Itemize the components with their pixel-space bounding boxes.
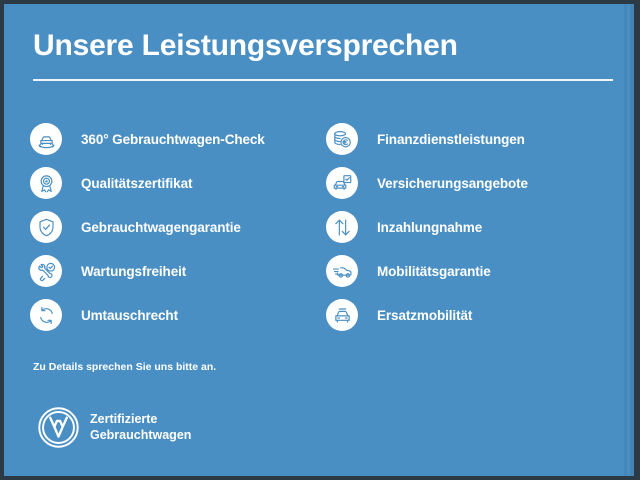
benefit-item: Finanzdienstleistungen <box>326 117 528 161</box>
benefit-item: Wartungsfreiheit <box>30 249 265 293</box>
edge-band <box>630 4 634 476</box>
up-down-arrows-icon <box>326 211 358 243</box>
wrench-check-icon <box>30 255 62 287</box>
benefit-label: Finanzdienstleistungen <box>377 132 525 147</box>
award-rosette-icon <box>30 167 62 199</box>
shield-check-icon <box>30 211 62 243</box>
benefit-item: 360° Gebrauchtwagen-Check <box>30 117 265 161</box>
benefit-item: Qualitätszertifikat <box>30 161 265 205</box>
volkswagen-logo-icon <box>36 405 81 450</box>
benefit-item: Ersatzmobilität <box>326 293 528 337</box>
car-speed-icon <box>326 255 358 287</box>
exchange-arrows-icon <box>30 299 62 331</box>
car-front-icon <box>326 299 358 331</box>
car-360-check-icon <box>30 123 62 155</box>
benefit-item: Umtauschrecht <box>30 293 265 337</box>
screenshot-frame: Unsere Leistungsversprechen 360° Gebrauc… <box>0 0 640 480</box>
brand-lockup: Zertifizierte Gebrauchtwagen <box>36 405 191 450</box>
benefit-label: Versicherungsangebote <box>377 176 528 191</box>
coins-euro-icon <box>326 123 358 155</box>
benefit-label: 360° Gebrauchtwagen-Check <box>81 132 265 147</box>
benefit-item: Gebrauchtwagengarantie <box>30 205 265 249</box>
benefit-label: Inzahlungnahme <box>377 220 482 235</box>
footnote-text: Zu Details sprechen Sie uns bitte an. <box>33 361 216 373</box>
benefit-item: Versicherungsangebote <box>326 161 528 205</box>
car-document-check-icon <box>326 167 358 199</box>
benefit-label: Qualitätszertifikat <box>81 176 192 191</box>
page-title: Unsere Leistungsversprechen <box>33 29 458 63</box>
benefits-left-column: 360° Gebrauchtwagen-Check Qualitätszerti… <box>30 117 265 337</box>
benefit-label: Wartungsfreiheit <box>81 264 186 279</box>
benefit-item: Inzahlungnahme <box>326 205 528 249</box>
benefits-right-column: Finanzdienstleistungen Versicherungsange… <box>326 117 528 337</box>
brand-lockup-line2: Gebrauchtwagen <box>90 428 191 442</box>
brand-lockup-text: Zertifizierte Gebrauchtwagen <box>90 412 191 443</box>
title-divider <box>33 79 613 81</box>
benefit-item: Mobilitätsgarantie <box>326 249 528 293</box>
vw-benefits-slide: Unsere Leistungsversprechen 360° Gebrauc… <box>4 4 634 476</box>
benefit-label: Umtauschrecht <box>81 308 178 323</box>
edge-band <box>624 4 627 476</box>
benefit-label: Gebrauchtwagengarantie <box>81 220 241 235</box>
benefit-label: Mobilitätsgarantie <box>377 264 491 279</box>
brand-lockup-line1: Zertifizierte <box>90 412 157 426</box>
benefit-label: Ersatzmobilität <box>377 308 472 323</box>
